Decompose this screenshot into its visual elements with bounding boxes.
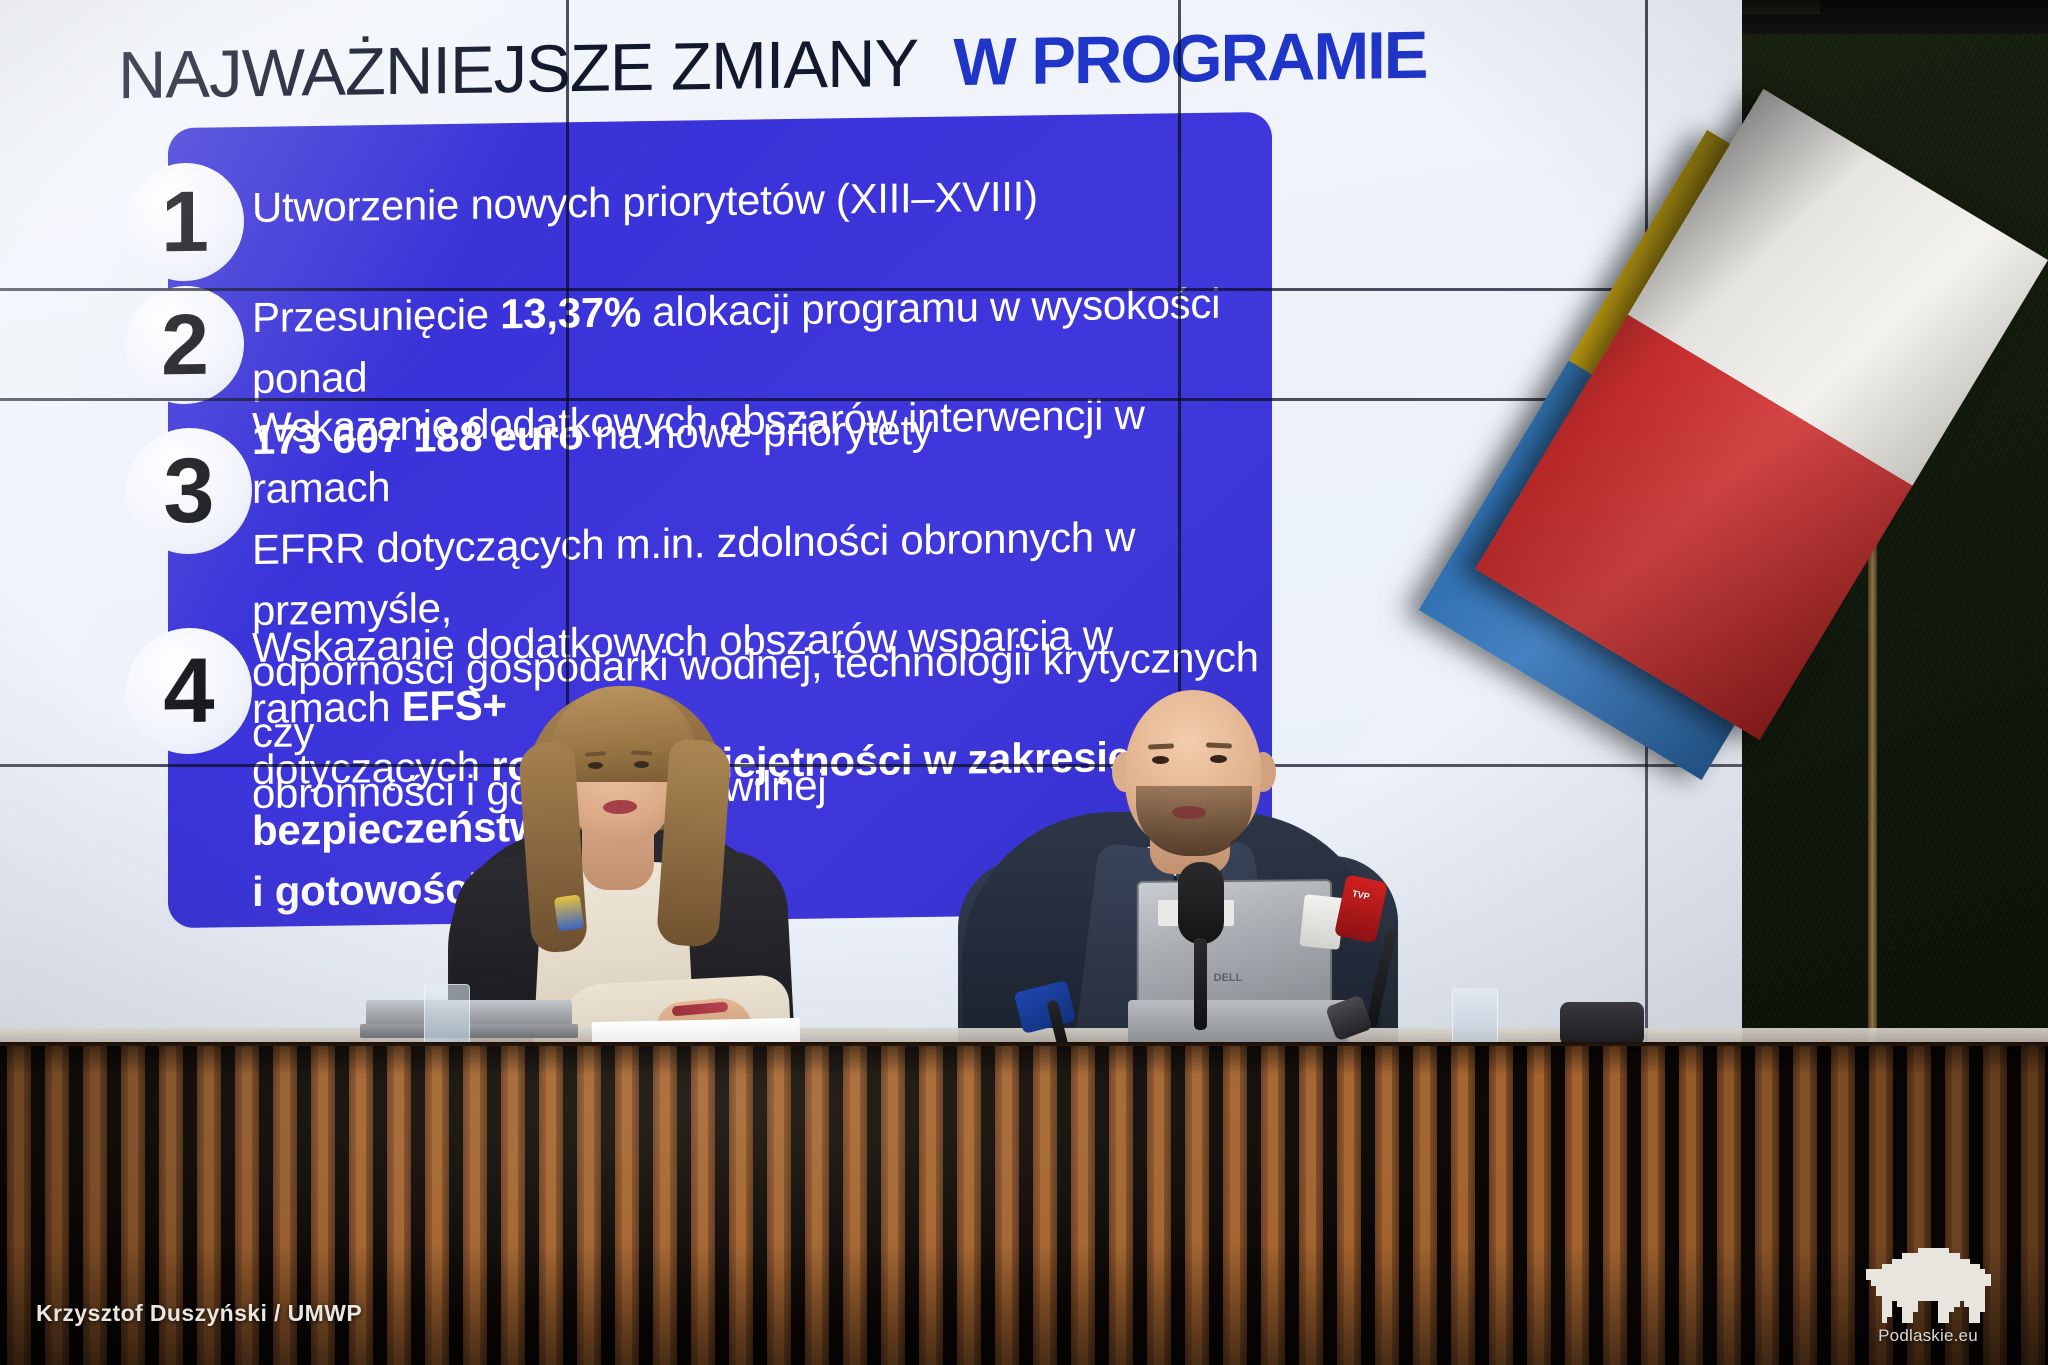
photo-credit: Krzysztof Duszyński / UMWP [36, 1300, 362, 1327]
led-seam-horizontal [0, 288, 1742, 291]
microphone-black-stem [1194, 938, 1207, 1030]
lapel-pin [554, 894, 584, 931]
audio-device [1560, 1002, 1644, 1046]
bison-icon [1866, 1248, 1990, 1322]
microphone-black-head [1178, 862, 1224, 944]
watermark: Podlaskie.eu [1838, 1248, 2018, 1346]
watermark-url: Podlaskie.eu [1838, 1326, 2018, 1346]
eye-left [588, 762, 603, 769]
mouth [1172, 806, 1206, 819]
eye-left [1152, 756, 1169, 764]
slide-title: NAJWAŻNIEJSZE ZMIANY W PROGRAMIE [118, 22, 1426, 110]
slide-title-accent: W PROGRAMIE [953, 18, 1426, 100]
eye-right [634, 761, 649, 768]
slide-item-line: Wskazanie dodatkowych obszarów interwenc… [252, 382, 1262, 519]
led-seam-horizontal [0, 764, 1742, 767]
slide-item-line: Wskazanie dodatkowych obszarów wsparcia … [252, 602, 1262, 739]
laptop-brand-label: DELL [1210, 972, 1246, 988]
slide-title-plain: NAJWAŻNIEJSZE ZMIANY [118, 26, 918, 114]
conference-photo: NAJWAŻNIEJSZE ZMIANY W PROGRAMIE 1Utworz… [0, 0, 2048, 1365]
led-seam-horizontal [0, 398, 1742, 401]
eye-right [1210, 755, 1227, 763]
